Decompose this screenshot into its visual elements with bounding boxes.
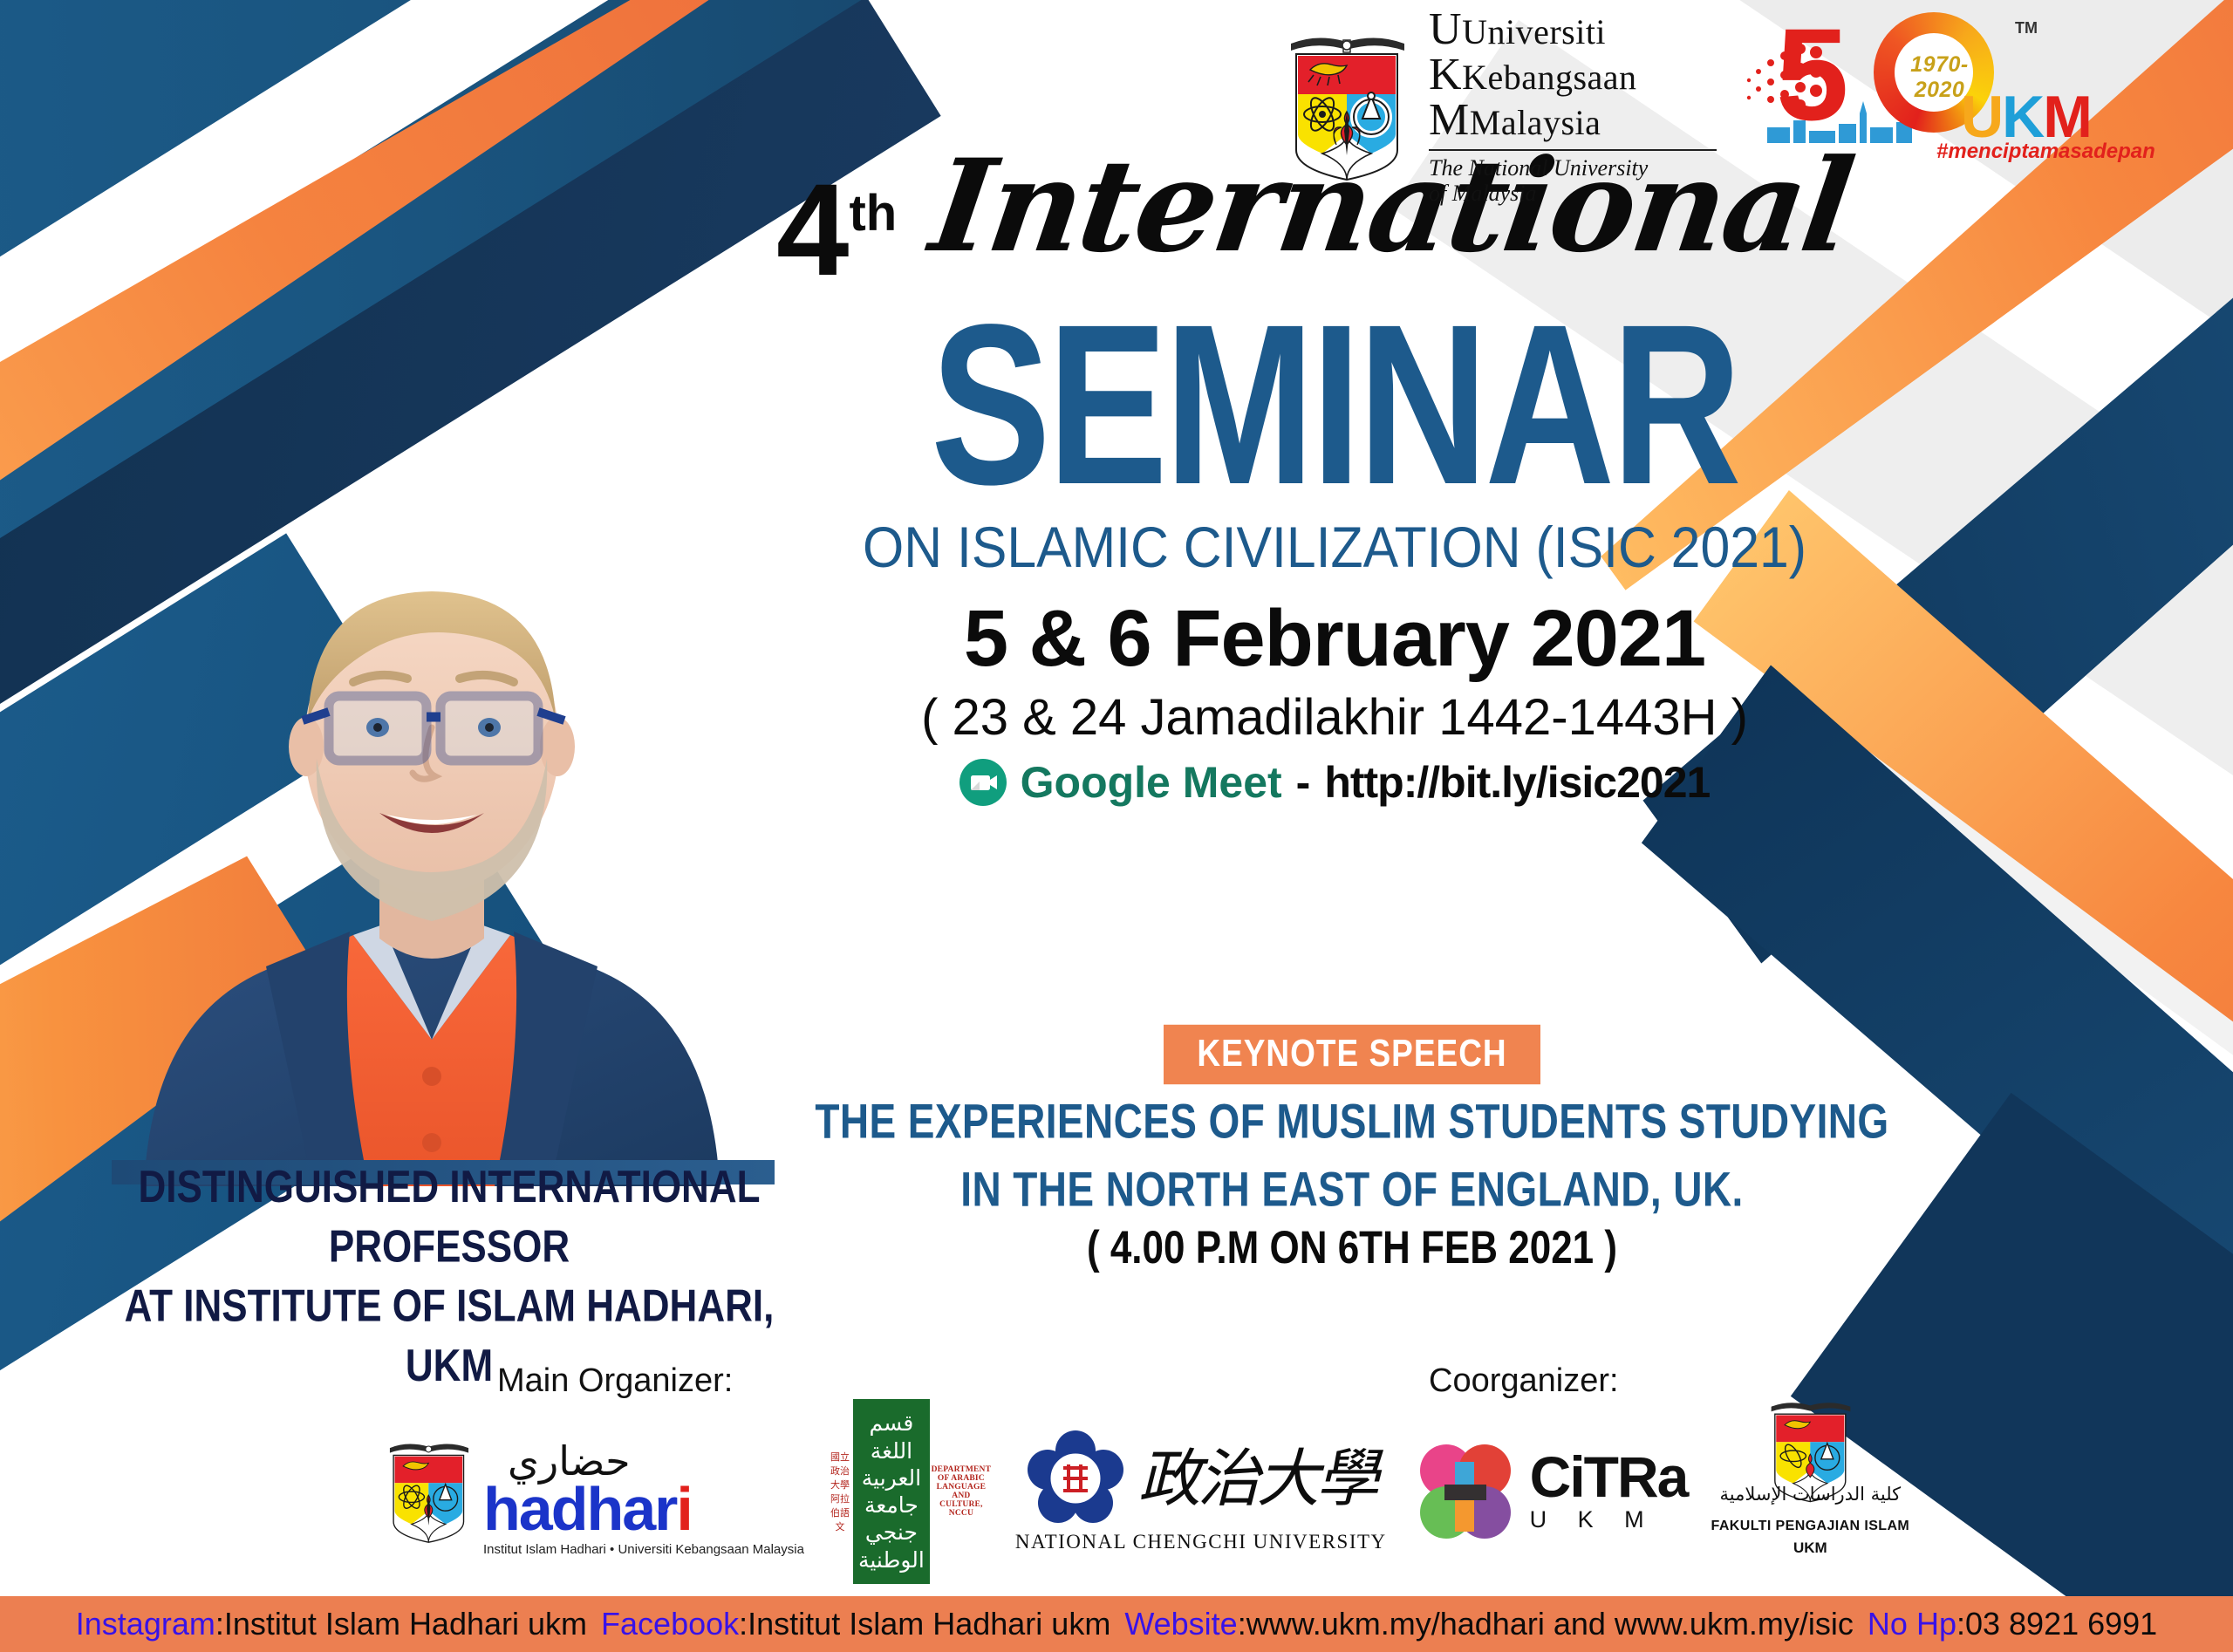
seminar-poster: UUniversiti KKebangsaan MMalaysia The Na… — [0, 0, 2233, 1652]
status-badge: KEYNOTE SPEECH — [1164, 1025, 1540, 1084]
citra-word: CiTRa — [1530, 1450, 1688, 1505]
ukm-line2: KKebangsaan — [1429, 52, 1717, 98]
title-block: 4th International SEMINAR ON ISLAMIC CIV… — [680, 148, 1989, 808]
arabdept-chinese: 國立政治大學阿拉伯語文 — [827, 1450, 853, 1533]
footer-website-sep: : — [1238, 1606, 1246, 1642]
ukm-line3: MMalaysia — [1429, 98, 1717, 143]
ordinal-suffix: th — [849, 185, 897, 242]
anniversary-number-5: 5 — [1776, 9, 1848, 140]
keynote-time: ( 4.00 P.M ON 6TH FEB 2021 ) — [785, 1225, 1919, 1271]
arabdept-arabic-line2: جامعة جنجي الوطنية — [858, 1492, 925, 1573]
keynote-title: THE EXPERIENCES OF MUSLIM STUDENTS STUDY… — [785, 1088, 1919, 1225]
footer-instagram-value[interactable]: Institut Islam Hadhari ukm — [224, 1606, 587, 1642]
ukm-wordmark: UUniversiti KKebangsaan MMalaysia The Na… — [1429, 7, 1717, 206]
header-logos: UUniversiti KKebangsaan MMalaysia The Na… — [1282, 7, 2224, 164]
footer-facebook-value[interactable]: Institut Islam Hadhari ukm — [748, 1606, 1110, 1642]
hadhari-word: hadhari — [483, 1480, 692, 1539]
keynote-title-line2: IN THE NORTH EAST OF ENGLAND, UK. — [785, 1156, 1919, 1224]
ukm-crest-icon — [1282, 31, 1413, 181]
ukm-tagline-2: of Malaysia — [1429, 181, 1717, 206]
event-dates: 5 & 6 February 2021 — [680, 598, 1989, 679]
footer-facebook-sep: : — [739, 1606, 748, 1642]
nccu-english: NATIONAL CHENGCHI UNIVERSITY — [1015, 1531, 1387, 1553]
footer-phone-sep: : — [1956, 1606, 1965, 1642]
ukm-line1: UUniversiti — [1429, 7, 1717, 52]
fpi-english: FAKULTI PENGAJIAN ISLAM — [1710, 1519, 1910, 1534]
ukm-crest-icon-small — [384, 1426, 475, 1557]
footer-instagram-label: Instagram — [76, 1606, 215, 1642]
anniversary-hashtag: #menciptamasadepan — [1936, 140, 2155, 164]
nccu-logo: 政治大學 NATIONAL CHENGCHI UNIVERSITY — [1015, 1430, 1387, 1553]
citra-wordmark: CiTRa U K M — [1530, 1450, 1688, 1533]
google-meet-dash: - — [1296, 757, 1311, 808]
main-organizer-label: Main Organizer: — [497, 1362, 733, 1400]
keynote-block: KEYNOTE SPEECH THE EXPERIENCES OF MUSLIM… — [785, 1029, 1919, 1267]
keynote-title-line1: THE EXPERIENCES OF MUSLIM STUDENTS STUDY… — [785, 1088, 1919, 1156]
citra-logo: CiTRa U K M — [1410, 1436, 1688, 1547]
footer-instagram-sep: : — [215, 1606, 224, 1642]
trademark-mark: TM — [2015, 19, 2038, 38]
event-dates-hijri: ( 23 & 24 Jamadilakhir 1442-1443H ) — [680, 693, 1989, 743]
ukm-tagline-1: The National University — [1429, 155, 1717, 181]
fakulti-pengajian-islam-logo: كلية الدراسات الإسلامية FAKULTI PENGAJIA… — [1710, 1409, 1910, 1574]
organizer-logos-row: حضاري hadhari Institut Islam Hadhari • U… — [384, 1404, 1945, 1579]
ukm-logo: UUniversiti KKebangsaan MMalaysia The Na… — [1282, 7, 1717, 206]
page-title: SEMINAR — [727, 300, 1943, 510]
coorganizer-label: Coorganizer: — [1429, 1362, 1619, 1400]
ukm-divider — [1429, 149, 1717, 151]
ukm-50th-anniversary-logo: 5 1970-2020 TM UKM #menciptamasadepan — [1743, 7, 2109, 160]
hadhari-wordmark: حضاري hadhari Institut Islam Hadhari • U… — [483, 1444, 804, 1557]
hadhari-word-i: i — [676, 1475, 691, 1543]
arabic-department-logo: 國立政治大學阿拉伯語文 قسم اللغة العربية جامعة جنجي… — [827, 1399, 993, 1584]
plum-blossom-icon — [1027, 1430, 1124, 1527]
ordinal-number: 4th — [776, 164, 897, 295]
speaker-caption: DISTINGUISHED INTERNATIONAL PROFESSOR AT… — [87, 1157, 811, 1396]
footer-phone-value: 03 8921 6991 — [1965, 1606, 2157, 1642]
fpi-arabic: كلية الدراسات الإسلامية — [1710, 1485, 1910, 1504]
hadhari-logo: حضاري hadhari Institut Islam Hadhari • U… — [384, 1426, 804, 1557]
nccu-top-row: 政治大學 — [1027, 1430, 1376, 1527]
footer-facebook-label: Facebook — [601, 1606, 739, 1642]
anniversary-ukm-letters: UKM — [1961, 87, 2091, 147]
contact-footer: Instagram : Institut Islam Hadhari ukm F… — [0, 1596, 2233, 1652]
google-meet-link[interactable]: http://bit.ly/isic2021 — [1324, 757, 1710, 808]
title-subtitle: ON ISLAMIC CIVILIZATION (ISIC 2021) — [733, 518, 1936, 576]
arabdept-caption: DEPARTMENT OF ARABIC LANGUAGE AND CULTUR… — [930, 1461, 993, 1522]
arabdept-arabic: قسم اللغة العربية جامعة جنجي الوطنية — [853, 1399, 930, 1584]
citra-ukm: U K M — [1530, 1506, 1688, 1533]
arabdept-arabic-line1: قسم اللغة العربية — [858, 1410, 925, 1492]
fpi-ukm: UKM — [1710, 1539, 1910, 1557]
nccu-chinese: 政治大學 — [1138, 1447, 1376, 1510]
google-meet-row[interactable]: Google Meet - http://bit.ly/isic2021 — [680, 757, 1989, 808]
hadhari-subtitle: Institut Islam Hadhari • Universiti Keba… — [483, 1542, 804, 1557]
footer-website-label: Website — [1124, 1606, 1237, 1642]
google-meet-icon — [959, 759, 1007, 806]
footer-website-value[interactable]: www.ukm.my/hadhari and www.ukm.my/isic — [1246, 1606, 1854, 1642]
google-meet-label: Google Meet — [1021, 757, 1282, 808]
citra-butterfly-icon — [1410, 1436, 1521, 1547]
speaker-caption-line1: DISTINGUISHED INTERNATIONAL PROFESSOR — [87, 1157, 811, 1277]
footer-phone-label: No Hp — [1868, 1606, 1956, 1642]
